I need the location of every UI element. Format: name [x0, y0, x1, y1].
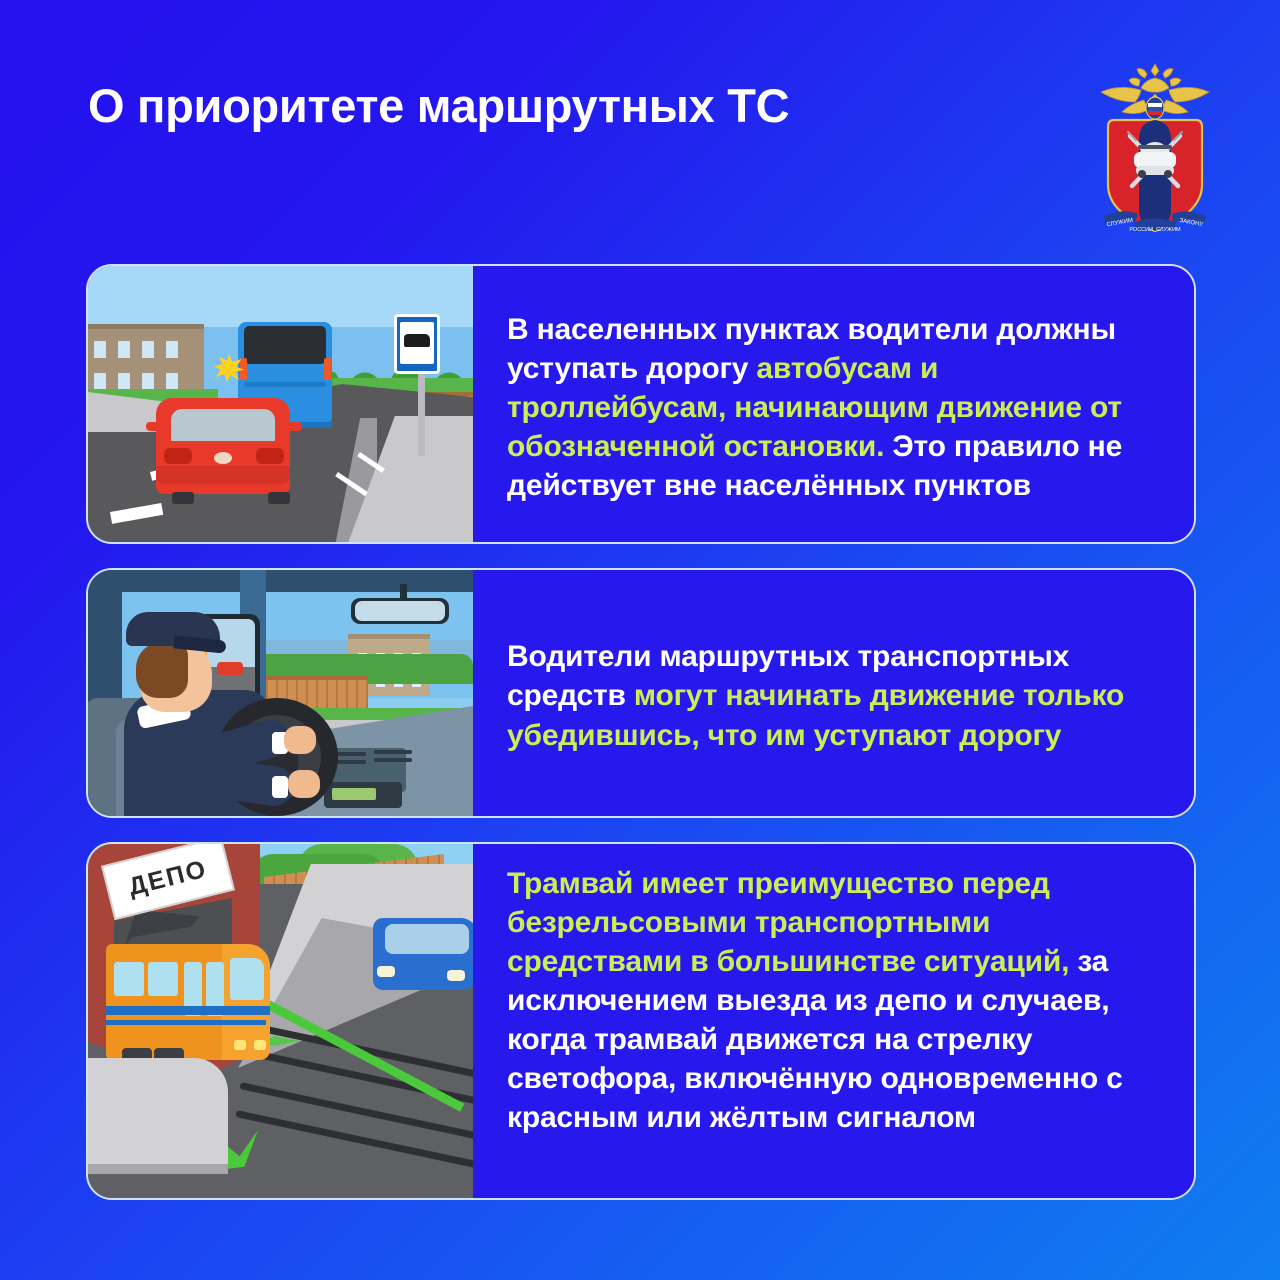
text-run-highlight: Трамвай имеет преимущество перед безрель…	[507, 867, 1069, 978]
bus-stop-sign-icon	[404, 334, 430, 347]
card-text-panel: Трамвай имеет преимущество перед безрель…	[473, 844, 1194, 1198]
card-pedestrian-areas: В населенных пунктах водители должны уст…	[86, 264, 1196, 544]
card-text-panel: В населенных пунктах водители должны уст…	[473, 266, 1194, 542]
card-text-panel: Водители маршрутных транспортных средств…	[473, 570, 1194, 816]
cards-list: В населенных пунктах водители должны уст…	[86, 264, 1196, 1200]
depot-sign-label: ДЕПО	[126, 854, 211, 901]
page-title: О приоритете маршрутных ТС	[88, 80, 1028, 132]
bus-departing-stop-illustration	[88, 266, 473, 542]
gibdd-emblem: СЛУЖИМ РОССИИ, СЛУЖИМ ЗАКОНУ	[1092, 58, 1218, 240]
bus-driver-cabin-illustration	[88, 570, 473, 816]
card-body-text: Трамвай имеет преимущество перед безрель…	[507, 864, 1160, 1137]
page-header: О приоритете маршрутных ТС	[0, 0, 1280, 250]
card-tram-priority: ДЕПО Трамвай имеет преимущество перед бе…	[86, 842, 1196, 1200]
emblem-motto-2: РОССИИ, СЛУЖИМ	[1129, 227, 1181, 233]
card-body-text: В населенных пунктах водители должны уст…	[507, 310, 1160, 505]
card-route-drivers: Водители маршрутных транспортных средств…	[86, 568, 1196, 818]
tram-leaving-depot-illustration: ДЕПО	[88, 844, 473, 1198]
card-body-text: Водители маршрутных транспортных средств…	[507, 637, 1160, 756]
